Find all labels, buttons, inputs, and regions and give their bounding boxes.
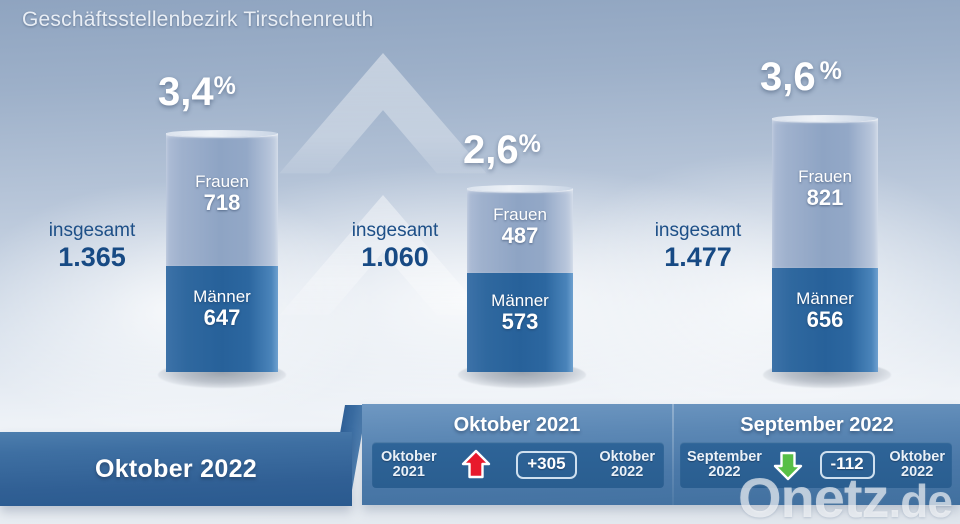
- down-arrow-icon: [771, 448, 805, 482]
- rate-unit-2: %: [519, 130, 541, 158]
- bar-label-women-2: Frauen 487: [467, 206, 573, 248]
- rate-unit-3: %: [820, 57, 842, 85]
- women-value-2: 487: [467, 224, 573, 248]
- total-value-3: 1.477: [628, 242, 768, 272]
- current-month-title: Oktober 2022: [0, 432, 352, 506]
- bar-label-men-2: Männer 573: [467, 292, 573, 334]
- rate-value-2: 2,6: [463, 128, 519, 172]
- stacked-bar-1: Frauen 718 Männer 647: [166, 133, 278, 372]
- bar-label-men-1: Männer 647: [166, 288, 278, 330]
- men-label-2: Männer: [467, 292, 573, 310]
- compare-month-delta: -112: [820, 451, 875, 479]
- total-value-2: 1.060: [325, 242, 465, 272]
- total-block-1: insgesamt 1.365: [22, 220, 162, 273]
- bar-top-ellipse-1: [166, 130, 278, 137]
- women-label-2: Frauen: [467, 206, 573, 224]
- bar-top-ellipse-2: [467, 185, 573, 192]
- women-value-3: 821: [772, 186, 878, 210]
- men-value-2: 573: [467, 310, 573, 334]
- men-value-1: 647: [166, 306, 278, 330]
- rate-label-3: 3,6%: [760, 57, 842, 97]
- total-label-3: insgesamt: [628, 220, 768, 241]
- rate-label-2: 2,6%: [463, 130, 541, 170]
- bar-label-men-3: Männer 656: [772, 290, 878, 332]
- total-block-3: insgesamt 1.477: [628, 220, 768, 273]
- rate-label-1: 3,4%: [158, 72, 236, 112]
- women-label-1: Frauen: [166, 173, 278, 191]
- men-label-3: Männer: [772, 290, 878, 308]
- rate-value-1: 3,4: [158, 70, 214, 114]
- women-value-1: 718: [166, 191, 278, 215]
- compare-month-from: September 2022: [687, 450, 762, 480]
- panel-comparisons: Oktober 2021 Oktober 2021 +305 Oktober 2…: [362, 404, 960, 505]
- bar-label-women-1: Frauen 718: [166, 173, 278, 215]
- compare-year-from: Oktober 2021: [381, 450, 437, 480]
- total-block-2: insgesamt 1.060: [325, 220, 465, 273]
- compare-month-row: September 2022 -112 Oktober 2022: [680, 442, 952, 488]
- total-label-1: insgesamt: [22, 220, 162, 241]
- agency-chevron-logo-watermark: [253, 45, 503, 345]
- total-value-1: 1.365: [22, 242, 162, 272]
- up-arrow-icon: [459, 448, 493, 482]
- total-label-2: insgesamt: [325, 220, 465, 241]
- men-label-1: Männer: [166, 288, 278, 306]
- page-title: Geschäftsstellenbezirk Tirschenreuth: [22, 8, 374, 32]
- compare-year-to: Oktober 2022: [599, 450, 655, 480]
- compare-year-delta: +305: [516, 451, 576, 479]
- bar-label-women-3: Frauen 821: [772, 168, 878, 210]
- women-label-3: Frauen: [772, 168, 878, 186]
- rate-value-3: 3,6: [760, 55, 816, 99]
- rate-unit-1: %: [214, 72, 236, 100]
- compare-year-header: Oktober 2021: [362, 412, 672, 438]
- stacked-bar-3: Frauen 821 Männer 656: [772, 118, 878, 372]
- stacked-bar-2: Frauen 487 Männer 573: [467, 188, 573, 372]
- compare-month-header: September 2022: [674, 412, 960, 438]
- infographic-canvas: Geschäftsstellenbezirk Tirschenreuth 3,4…: [0, 0, 960, 524]
- bar-top-ellipse-3: [772, 115, 878, 122]
- panel-current-month: Oktober 2022: [0, 432, 352, 506]
- compare-year-row: Oktober 2021 +305 Oktober 2022: [372, 442, 664, 488]
- men-value-3: 656: [772, 308, 878, 332]
- compare-month-to: Oktober 2022: [889, 450, 945, 480]
